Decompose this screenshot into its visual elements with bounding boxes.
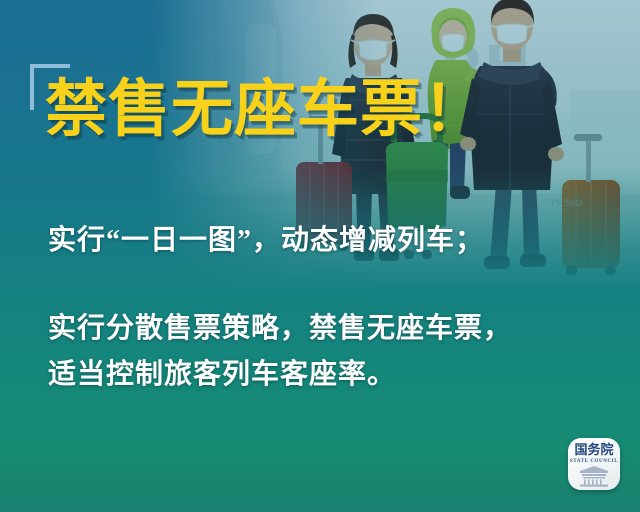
state-council-badge[interactable]: 国务院 STATE COUNCIL [568, 438, 620, 490]
badge-name-chinese: 国务院 [574, 444, 613, 458]
poster-canvas: PH [0, 0, 640, 512]
bracket-horizontal-stroke [30, 64, 70, 68]
bracket-vertical-stroke [30, 64, 34, 110]
body-line-2: 实行分散售票策略，禁售无座车票， [48, 306, 588, 352]
badge-name-english: STATE COUNCIL [570, 459, 618, 464]
body-line-3: 适当控制旅客列车客座率。 [48, 352, 588, 398]
poster-headline: 禁售无座车票！ [45, 78, 486, 140]
body-line-1: 实行“一日一图”，动态增减列车； [48, 218, 588, 264]
paragraph-gap [48, 264, 588, 306]
government-building-icon [572, 465, 616, 487]
poster-body-text: 实行“一日一图”，动态增减列车； 实行分散售票策略，禁售无座车票， 适当控制旅客… [48, 218, 588, 398]
